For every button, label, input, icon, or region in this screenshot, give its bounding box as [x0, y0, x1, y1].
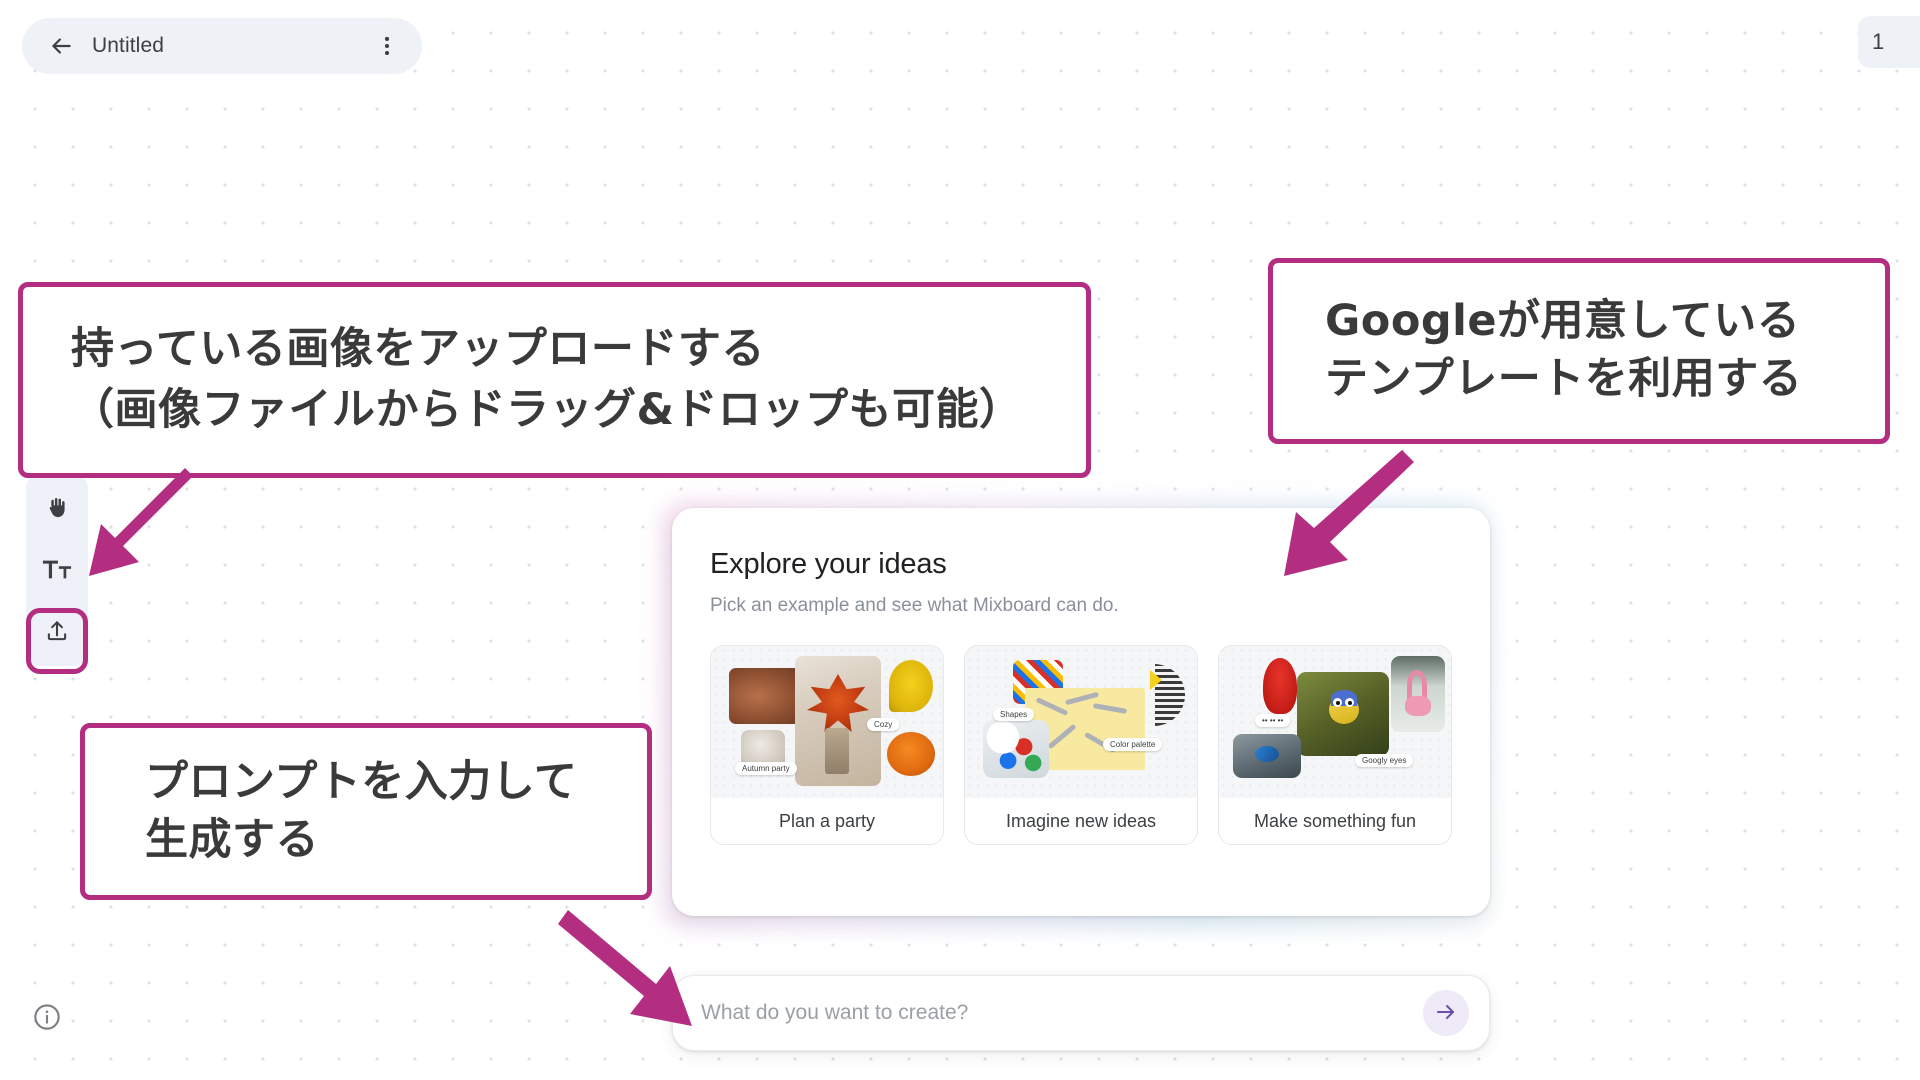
- top-right-chip-label: 1: [1872, 29, 1884, 55]
- callout-template-line1: Googleが用意している: [1325, 293, 1833, 351]
- thumb-sphere: [1123, 664, 1185, 726]
- callout-upload: 持っている画像をアップロードする （画像ファイルからドラッグ&ドロップも可能）: [18, 282, 1091, 478]
- callout-prompt: プロンプトを入力して 生成する: [80, 723, 652, 900]
- text-tool-button[interactable]: [34, 546, 80, 592]
- thumb-tag: Googly eyes: [1355, 754, 1413, 767]
- idea-card-plan-a-party[interactable]: Autumn party Cozy Plan a party: [710, 645, 944, 845]
- file-title[interactable]: Untitled: [92, 34, 356, 58]
- mixboard-canvas[interactable]: Untitled 1: [0, 0, 1920, 1080]
- idea-card-row: Autumn party Cozy Plan a party: [710, 645, 1452, 845]
- hand-tool-button[interactable]: [34, 484, 80, 530]
- annotation-arrow-prompt: [560, 900, 720, 1040]
- thumb-tag: •• •• ••: [1255, 714, 1290, 727]
- callout-prompt-line2: 生成する: [145, 812, 587, 870]
- prompt-input[interactable]: [701, 1001, 1423, 1025]
- idea-card-make-something-fun[interactable]: •• •• •• Googly eyes Make something fun: [1218, 645, 1452, 845]
- thumb-tag: Autumn party: [735, 762, 797, 775]
- text-tt-icon: [42, 556, 72, 582]
- idea-thumbnail: Autumn party Cozy: [711, 646, 943, 798]
- annotation-arrow-template: [1262, 452, 1432, 602]
- idea-thumbnail: •• •• •• Googly eyes: [1219, 646, 1451, 798]
- callout-upload-line1: 持っている画像をアップロードする: [71, 319, 1038, 380]
- idea-thumbnail: Shapes Color palette: [965, 646, 1197, 798]
- callout-template-line2: テンプレートを利用する: [1325, 351, 1833, 409]
- thumb-tag: Shapes: [993, 708, 1034, 721]
- thumb-kingfisher: [1233, 734, 1301, 778]
- kebab-menu-icon[interactable]: [374, 33, 400, 59]
- hand-icon: [44, 494, 71, 521]
- thumb-flamingo: [1391, 656, 1445, 732]
- idea-card-label: Plan a party: [711, 798, 943, 844]
- idea-card-label: Imagine new ideas: [965, 798, 1197, 844]
- back-arrow-icon[interactable]: [48, 33, 74, 59]
- callout-upload-line2: （画像ファイルからドラッグ&ドロップも可能）: [71, 380, 1038, 441]
- thumb-tag: Cozy: [867, 718, 899, 731]
- callout-prompt-line1: プロンプトを入力して: [145, 754, 587, 812]
- annotation-arrow-upload: [75, 468, 205, 598]
- thumb-armchair: [729, 668, 801, 724]
- upload-tool-highlight: [26, 608, 88, 674]
- thumb-pumpkin: [887, 732, 935, 776]
- send-button[interactable]: [1423, 990, 1469, 1036]
- thumb-tag: Color palette: [1103, 738, 1162, 751]
- idea-card-label: Make something fun: [1219, 798, 1451, 844]
- thumb-red-bird: [1263, 658, 1297, 714]
- file-chip[interactable]: Untitled: [22, 18, 422, 74]
- idea-card-imagine-new-ideas[interactable]: Shapes Color palette Imagine new ideas: [964, 645, 1198, 845]
- arrow-right-icon: [1434, 1000, 1458, 1027]
- prompt-bar[interactable]: [672, 975, 1490, 1051]
- thumb-polka-mug: [983, 720, 1049, 778]
- top-right-chip[interactable]: 1: [1858, 16, 1920, 68]
- thumb-yellow-leaf: [889, 660, 933, 712]
- info-circle-icon[interactable]: [32, 1002, 62, 1032]
- callout-template: Googleが用意している テンプレートを利用する: [1268, 258, 1890, 444]
- thumb-blue-tit: [1297, 672, 1389, 756]
